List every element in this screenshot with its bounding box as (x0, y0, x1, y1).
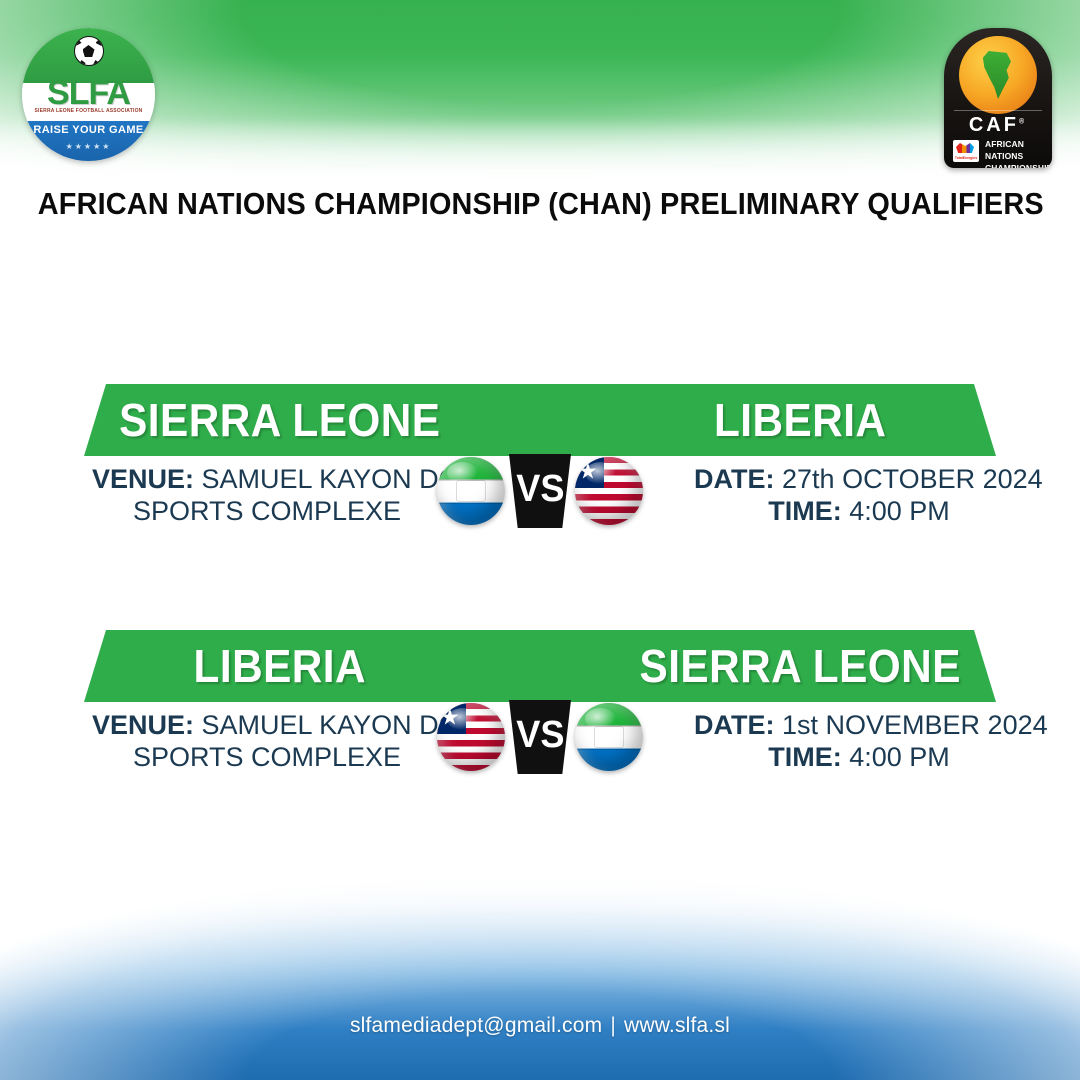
sponsor-name: TotalEnergies (954, 156, 978, 160)
email-link[interactable]: slfamediadept@gmail.com (350, 1014, 602, 1037)
match-card: SIERRA LEONE LIBERIA VENUE: SAMUEL KAYON… (0, 384, 1080, 546)
venue-line-2: SPORTS COMPLEXE (92, 742, 442, 774)
page-title: AFRICAN NATIONS CHAMPIONSHIP (CHAN) PREL… (38, 186, 1042, 222)
time-label: TIME: (768, 742, 842, 772)
venue-line-2: SPORTS COMPLEXE (92, 496, 442, 528)
caf-acronym: CAF® (944, 114, 1052, 137)
date-value: 27th OCTOBER 2024 (782, 464, 1043, 494)
schedule-info: DATE: 1st NOVEMBER 2024 TIME: 4:00 PM (694, 710, 1024, 774)
totalenergies-logo: TotalEnergies (953, 140, 979, 162)
match-details: VENUE: SAMUEL KAYON DOE SPORTS COMPLEXE … (0, 460, 1080, 546)
ball-seam (437, 503, 505, 505)
away-team-name: SIERRA LEONE (558, 643, 978, 689)
away-team-name: LIBERIA (558, 397, 978, 443)
venue-info: VENUE: SAMUEL KAYON DOE SPORTS COMPLEXE (92, 710, 442, 774)
slfa-acronym: SLFA (22, 76, 155, 110)
sierra-leone-flag-ball (575, 703, 643, 771)
caf-globe-icon (959, 36, 1037, 114)
time-value: 4:00 PM (849, 742, 950, 772)
ball-seam (575, 749, 643, 751)
registered-icon: ® (1019, 118, 1027, 125)
date-value: 1st NOVEMBER 2024 (782, 710, 1048, 740)
match-banner: SIERRA LEONE LIBERIA (84, 384, 996, 456)
caf-acronym-text: CAF (969, 114, 1019, 136)
home-team-name: LIBERIA (102, 643, 522, 689)
vs-badge: VS (509, 700, 571, 774)
slfa-stars: ★★★★★ (22, 142, 155, 151)
venue-label: VENUE: (92, 710, 194, 740)
slfa-logo: SLFA SIERRA LEONE FOOTBALL ASSOCIATION R… (22, 28, 155, 161)
caf-divider (954, 110, 1042, 111)
liberia-flag-ball (437, 703, 505, 771)
slfa-motto: RAISE YOUR GAME (22, 124, 155, 136)
footer-blue-gradient (0, 870, 1080, 1080)
caf-event-name: AFRICAN NATIONS CHAMPIONSHIP (985, 138, 1047, 168)
slfa-full-name: SIERRA LEONE FOOTBALL ASSOCIATION (22, 108, 155, 114)
home-team-name: SIERRA LEONE (102, 397, 522, 443)
caf-logo: CAF® TotalEnergies AFRICAN NATIONS CHAMP… (944, 28, 1052, 168)
match-banner: LIBERIA SIERRA LEONE (84, 630, 996, 702)
vs-label: VS (516, 468, 564, 511)
ball-panel (594, 726, 624, 748)
sierra-leone-flag-ball (437, 457, 505, 525)
date-label: DATE: (694, 710, 775, 740)
vs-label: VS (516, 714, 564, 757)
soccer-ball-icon (74, 36, 104, 66)
time-line: TIME: 4:00 PM (694, 496, 1024, 528)
match-card: LIBERIA SIERRA LEONE VENUE: SAMUEL KAYON… (0, 630, 1080, 792)
date-label: DATE: (694, 464, 775, 494)
liberia-flag-ball (575, 457, 643, 525)
footer-contact: slfamediadept@gmail.com|www.slfa.sl (0, 1014, 1080, 1038)
footer-separator: | (602, 1014, 624, 1037)
africa-map-icon (980, 51, 1016, 99)
schedule-info: DATE: 27th OCTOBER 2024 TIME: 4:00 PM (694, 464, 1024, 528)
time-line: TIME: 4:00 PM (694, 742, 1024, 774)
venue-label: VENUE: (92, 464, 194, 494)
vs-badge: VS (509, 454, 571, 528)
ball-panel (456, 480, 486, 502)
venue-info: VENUE: SAMUEL KAYON DOE SPORTS COMPLEXE (92, 464, 442, 528)
time-value: 4:00 PM (849, 496, 950, 526)
website-link[interactable]: www.slfa.sl (624, 1014, 730, 1037)
versus-cluster: VS (437, 454, 643, 528)
time-label: TIME: (768, 496, 842, 526)
match-details: VENUE: SAMUEL KAYON DOE SPORTS COMPLEXE … (0, 706, 1080, 792)
versus-cluster: VS (437, 700, 643, 774)
